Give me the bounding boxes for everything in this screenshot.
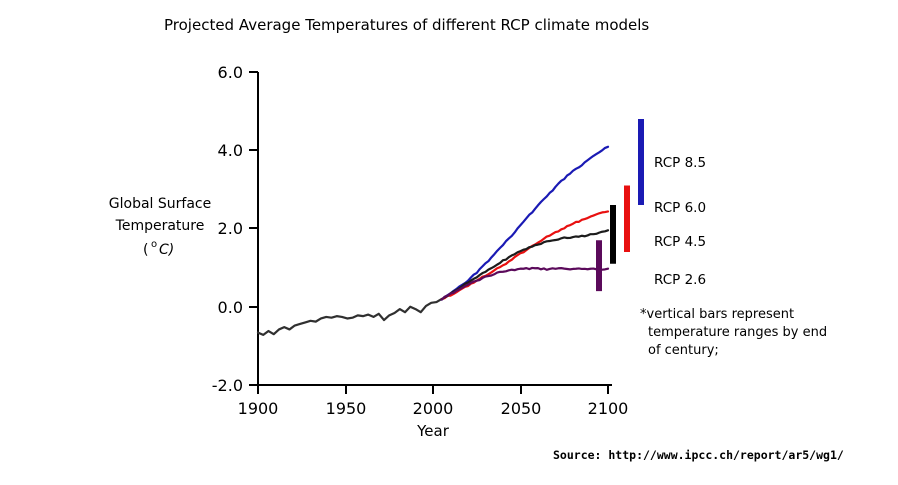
footnote-line-3: of century; <box>648 343 719 358</box>
chart-title: Projected Average Temperatures of differ… <box>164 16 649 34</box>
x-tick-label-2000: 2000 <box>413 399 454 418</box>
y-axis-title-line1: Global Surface <box>109 196 211 212</box>
y-tick-label-2: 2.0 <box>218 219 243 238</box>
degree-symbol-icon: o <box>151 239 157 250</box>
x-axis-title: Year <box>416 422 450 440</box>
footnote-note: *vertical bars represent temperature ran… <box>640 307 827 358</box>
y-tick-label-6: 6.0 <box>218 63 243 82</box>
x-tick-label-1900: 1900 <box>238 399 279 418</box>
legend-label-rcp26: RCP 2.6 <box>654 272 706 288</box>
climate-chart-figure: Projected Average Temperatures of differ… <box>0 0 898 485</box>
footnote-line-2: temperature ranges by end <box>648 325 827 340</box>
source-attribution: Source: http://www.ipcc.ch/report/ar5/wg… <box>553 448 844 462</box>
range-bars-group <box>599 119 641 291</box>
legend: RCP 8.5 RCP 6.0 RCP 4.5 RCP 2.6 <box>654 155 706 288</box>
x-tick-label-1950: 1950 <box>326 399 367 418</box>
x-tick-label-2050: 2050 <box>501 399 542 418</box>
legend-label-rcp60: RCP 6.0 <box>654 200 706 216</box>
series-line-rcp45 <box>442 230 608 299</box>
y-tick-label-4: 4.0 <box>218 141 243 160</box>
y-tick-label-0: 0.0 <box>218 298 243 317</box>
chart-svg: Projected Average Temperatures of differ… <box>0 0 898 485</box>
y-axis-title-line2: Temperature <box>115 218 205 234</box>
legend-label-rcp85: RCP 8.5 <box>654 155 706 171</box>
footnote-line-1: *vertical bars represent <box>640 307 794 322</box>
series-group <box>258 147 608 335</box>
legend-label-rcp45: RCP 4.5 <box>654 234 706 250</box>
series-line-historical <box>258 299 442 335</box>
y-axis-title-units: ( o C) <box>143 239 174 258</box>
series-line-rcp85 <box>442 147 608 300</box>
y-tick-label-neg2: -2.0 <box>212 376 243 395</box>
y-axis-units-celsius: C) <box>159 242 174 258</box>
x-tick-label-2100: 2100 <box>588 399 629 418</box>
y-axis-units-open-paren: ( <box>143 242 148 258</box>
